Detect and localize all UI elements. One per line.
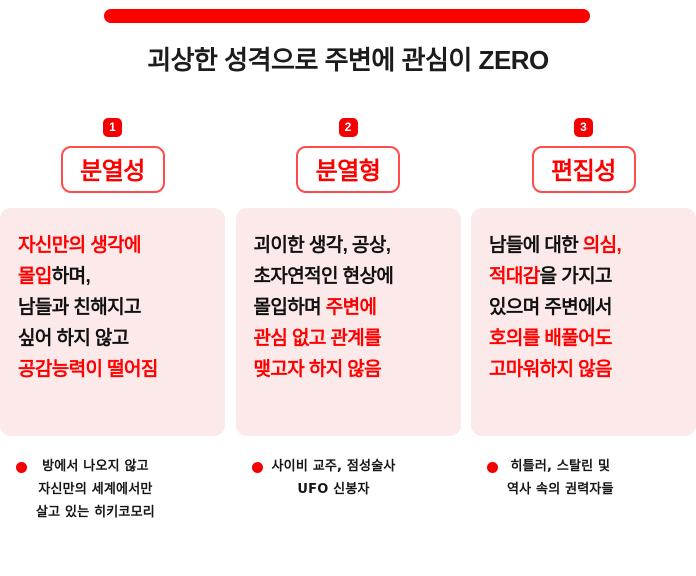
card-text-plain: 싶어 하지 않고 bbox=[18, 328, 129, 349]
card-text-plain: 하며, bbox=[52, 266, 90, 287]
footnotes-container: 방에서 나오지 않고자신만의 세계에서만살고 있는 히키코모리 사이비 교주, … bbox=[0, 455, 696, 524]
footnote-line: 방에서 나오지 않고 bbox=[36, 455, 155, 478]
card-line: 몰입하며 주변에 bbox=[254, 292, 445, 323]
card-text-highlight: 적대감 bbox=[489, 266, 540, 287]
card-text-plain: 남들에 대한 bbox=[489, 235, 583, 256]
footnote-line: 사이비 교주, 점성술사 bbox=[272, 455, 396, 478]
column-label-2: 분열형 bbox=[296, 146, 400, 193]
column-1: 1 분열성 자신만의 생각에몰입하며,남들과 친해지고싶어 하지 않고공감능력이… bbox=[0, 118, 225, 436]
bullet-dot-icon bbox=[16, 462, 27, 473]
column-badge-1: 1 bbox=[103, 118, 122, 137]
card-line: 적대감을 가지고 bbox=[489, 261, 680, 292]
card-text-highlight: 호의를 배풀어도 bbox=[489, 328, 612, 349]
card-line: 자신만의 생각에 bbox=[18, 230, 209, 261]
card-text-highlight: 공감능력이 떨어짐 bbox=[18, 359, 158, 380]
column-badge-2: 2 bbox=[339, 118, 358, 137]
card-text-highlight: 의심, bbox=[583, 235, 621, 256]
footnote-line: 역사 속의 권력자들 bbox=[507, 478, 614, 501]
card-line: 몰입하며, bbox=[18, 261, 209, 292]
footnote-text-1: 방에서 나오지 않고자신만의 세계에서만살고 있는 히키코모리 bbox=[36, 455, 155, 524]
column-label-1: 분열성 bbox=[61, 146, 165, 193]
bullet-dot-icon bbox=[487, 462, 498, 473]
footnote-1: 방에서 나오지 않고자신만의 세계에서만살고 있는 히키코모리 bbox=[0, 455, 225, 524]
card-text-plain: 남들과 친해지고 bbox=[18, 297, 141, 318]
column-3: 3 편집성 남들에 대한 의심,적대감을 가지고있으며 주변에서호의를 배풀어도… bbox=[471, 118, 696, 436]
card-line: 관심 없고 관계를 bbox=[254, 323, 445, 354]
column-label-3: 편집성 bbox=[532, 146, 636, 193]
card-text-plain: 초자연적인 현상에 bbox=[254, 266, 394, 287]
card-line: 고마워하지 않음 bbox=[489, 354, 680, 385]
footnote-line: 살고 있는 히키코모리 bbox=[36, 501, 155, 524]
bullet-dot-icon bbox=[252, 462, 263, 473]
card-line: 남들에 대한 의심, bbox=[489, 230, 680, 261]
card-text-highlight: 관심 없고 관계를 bbox=[254, 328, 382, 349]
card-line: 남들과 친해지고 bbox=[18, 292, 209, 323]
footnote-line: 자신만의 세계에서만 bbox=[36, 478, 155, 501]
footnote-3: 히틀러, 스탈린 및역사 속의 권력자들 bbox=[471, 455, 696, 524]
column-card-3: 남들에 대한 의심,적대감을 가지고있으며 주변에서호의를 배풀어도고마워하지 … bbox=[471, 208, 696, 436]
card-text-highlight: 고마워하지 않음 bbox=[489, 359, 612, 380]
column-2: 2 분열형 괴이한 생각, 공상,초자연적인 현상에몰입하며 주변에관심 없고 … bbox=[236, 118, 461, 436]
footnote-text-2: 사이비 교주, 점성술사UFO 신봉자 bbox=[272, 455, 396, 501]
column-badge-3: 3 bbox=[574, 118, 593, 137]
card-line: 초자연적인 현상에 bbox=[254, 261, 445, 292]
footnote-line: 히틀러, 스탈린 및 bbox=[507, 455, 614, 478]
card-text-plain: 있으며 주변에서 bbox=[489, 297, 612, 318]
card-text-plain: 몰입하며 bbox=[254, 297, 326, 318]
card-line: 공감능력이 떨어짐 bbox=[18, 354, 209, 385]
card-text-highlight: 맺고자 하지 않음 bbox=[254, 359, 382, 380]
top-red-rule bbox=[0, 8, 696, 24]
card-text-plain: 을 가지고 bbox=[540, 266, 612, 287]
footnote-2: 사이비 교주, 점성술사UFO 신봉자 bbox=[236, 455, 461, 524]
footnote-line: UFO 신봉자 bbox=[272, 478, 396, 501]
card-text-highlight: 자신만의 생각에 bbox=[18, 235, 141, 256]
card-line: 싶어 하지 않고 bbox=[18, 323, 209, 354]
page-title: 괴상한 성격으로 주변에 관심이 ZERO bbox=[0, 40, 696, 77]
footnote-text-3: 히틀러, 스탈린 및역사 속의 권력자들 bbox=[507, 455, 614, 501]
top-red-rule-bar bbox=[104, 9, 590, 23]
card-text-highlight: 주변에 bbox=[326, 297, 377, 318]
card-line: 호의를 배풀어도 bbox=[489, 323, 680, 354]
column-card-2: 괴이한 생각, 공상,초자연적인 현상에몰입하며 주변에관심 없고 관계를맺고자… bbox=[236, 208, 461, 436]
card-line: 맺고자 하지 않음 bbox=[254, 354, 445, 385]
card-text-highlight: 몰입 bbox=[18, 266, 52, 287]
columns-container: 1 분열성 자신만의 생각에몰입하며,남들과 친해지고싶어 하지 않고공감능력이… bbox=[0, 118, 696, 436]
card-line: 있으며 주변에서 bbox=[489, 292, 680, 323]
card-line: 괴이한 생각, 공상, bbox=[254, 230, 445, 261]
card-text-plain: 괴이한 생각, 공상, bbox=[254, 235, 391, 256]
column-card-1: 자신만의 생각에몰입하며,남들과 친해지고싶어 하지 않고공감능력이 떨어짐 bbox=[0, 208, 225, 436]
